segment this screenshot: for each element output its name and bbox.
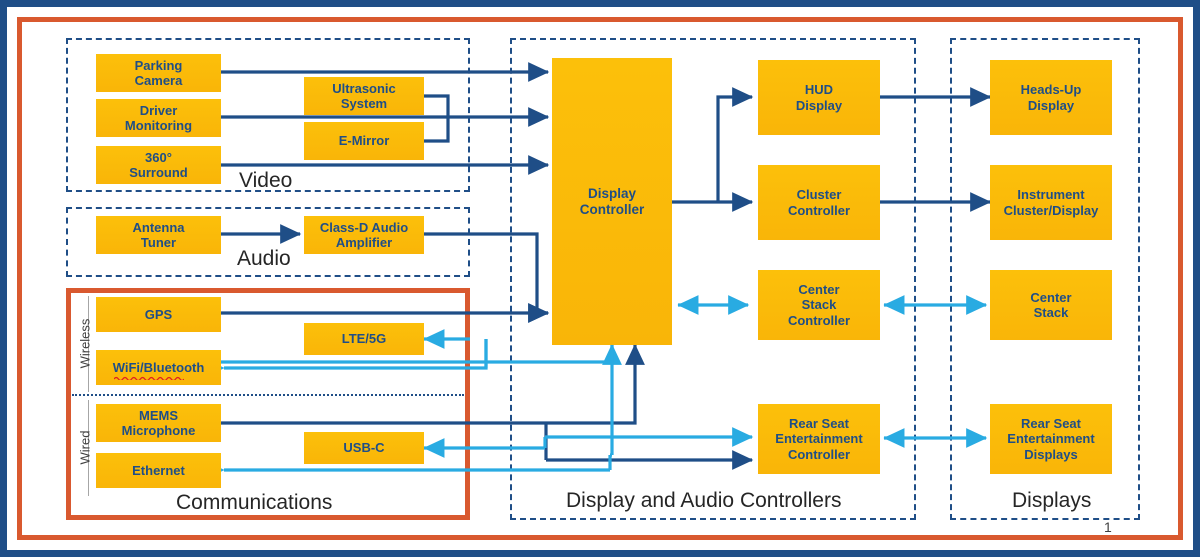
block-wifi-bluetooth-label: WiFi/Bluetooth bbox=[113, 360, 205, 375]
block-parking-camera-label: Parking Camera bbox=[135, 58, 183, 89]
block-cluster-controller-label: Cluster Controller bbox=[788, 187, 850, 218]
block-ultrasonic-system[interactable]: Ultrasonic System bbox=[304, 77, 424, 115]
block-center-stack-controller-label: Center Stack Controller bbox=[788, 282, 850, 328]
block-360-surround-label: 360° Surround bbox=[129, 150, 188, 181]
block-center-stack-controller[interactable]: Center Stack Controller bbox=[758, 270, 880, 340]
block-rear-seat-entertainment-displays-label: Rear Seat Entertainment Displays bbox=[1007, 416, 1094, 462]
block-center-stack[interactable]: Center Stack bbox=[990, 270, 1112, 340]
slide-root: Parking Camera Driver Monitoring 360° Su… bbox=[0, 0, 1200, 557]
caption-video: Video bbox=[239, 169, 292, 193]
block-e-mirror[interactable]: E-Mirror bbox=[304, 122, 424, 160]
block-center-stack-label: Center Stack bbox=[1030, 290, 1071, 321]
block-display-controller[interactable]: Display Controller bbox=[552, 58, 672, 345]
block-heads-up-display[interactable]: Heads-Up Display bbox=[990, 60, 1112, 135]
block-antenna-tuner-label: Antenna Tuner bbox=[133, 220, 185, 251]
block-360-surround[interactable]: 360° Surround bbox=[96, 146, 221, 184]
block-lte-5g[interactable]: LTE/5G bbox=[304, 323, 424, 355]
block-class-d-audio-amplifier[interactable]: Class-D Audio Amplifier bbox=[304, 216, 424, 254]
block-usb-c[interactable]: USB-C bbox=[304, 432, 424, 464]
block-instrument-cluster-display-label: Instrument Cluster/Display bbox=[1004, 187, 1099, 218]
block-instrument-cluster-display[interactable]: Instrument Cluster/Display bbox=[990, 165, 1112, 240]
block-gps-label: GPS bbox=[145, 307, 172, 322]
block-mems-microphone-label: MEMS Microphone bbox=[122, 408, 196, 439]
block-mems-microphone[interactable]: MEMS Microphone bbox=[96, 404, 221, 442]
block-usb-c-label: USB-C bbox=[343, 440, 384, 455]
caption-audio: Audio bbox=[237, 247, 291, 271]
block-ethernet[interactable]: Ethernet bbox=[96, 453, 221, 488]
block-class-d-audio-amplifier-label: Class-D Audio Amplifier bbox=[320, 220, 408, 251]
sublabel-wireless: Wireless bbox=[78, 309, 93, 379]
block-display-controller-label: Display Controller bbox=[580, 186, 645, 218]
page-number: 1 bbox=[1104, 519, 1112, 535]
block-parking-camera[interactable]: Parking Camera bbox=[96, 54, 221, 92]
sublabel-wired: Wired bbox=[78, 420, 93, 476]
block-heads-up-display-label: Heads-Up Display bbox=[1021, 82, 1082, 113]
block-rear-seat-entertainment-controller-label: Rear Seat Entertainment Controller bbox=[775, 416, 862, 462]
caption-controllers: Display and Audio Controllers bbox=[566, 489, 841, 513]
block-e-mirror-label: E-Mirror bbox=[339, 133, 390, 148]
block-cluster-controller[interactable]: Cluster Controller bbox=[758, 165, 880, 240]
block-gps[interactable]: GPS bbox=[96, 297, 221, 332]
caption-communications: Communications bbox=[176, 491, 332, 515]
block-lte-5g-label: LTE/5G bbox=[342, 331, 387, 346]
block-ultrasonic-system-label: Ultrasonic System bbox=[332, 81, 396, 112]
caption-displays: Displays bbox=[1012, 489, 1091, 513]
block-driver-monitoring-label: Driver Monitoring bbox=[125, 103, 192, 134]
block-rear-seat-entertainment-displays[interactable]: Rear Seat Entertainment Displays bbox=[990, 404, 1112, 474]
block-driver-monitoring[interactable]: Driver Monitoring bbox=[96, 99, 221, 137]
block-ethernet-label: Ethernet bbox=[132, 463, 185, 478]
spellcheck-underline-icon bbox=[114, 376, 184, 380]
block-antenna-tuner[interactable]: Antenna Tuner bbox=[96, 216, 221, 254]
block-rear-seat-entertainment-controller[interactable]: Rear Seat Entertainment Controller bbox=[758, 404, 880, 474]
wireless-wired-separator bbox=[72, 394, 464, 396]
block-hud-display[interactable]: HUD Display bbox=[758, 60, 880, 135]
block-hud-display-label: HUD Display bbox=[796, 82, 842, 113]
